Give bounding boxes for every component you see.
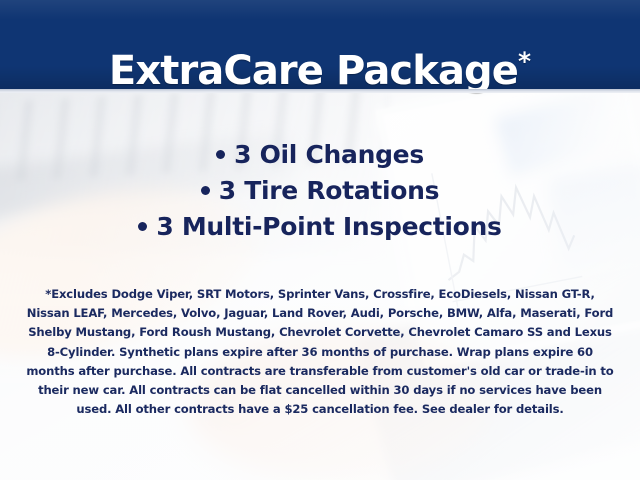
bullet-point-icon — [201, 186, 210, 195]
benefit-label: 3 Tire Rotations — [219, 176, 440, 205]
bullet-point-icon — [138, 222, 147, 231]
benefit-item-multi-point-inspections: 3 Multi-Point Inspections — [0, 209, 640, 245]
extracare-package-poster: ExtraCare Package* 3 Oil Changes 3 Tire … — [0, 0, 640, 480]
benefit-label: 3 Oil Changes — [234, 140, 424, 169]
benefit-label: 3 Multi-Point Inspections — [156, 212, 501, 241]
benefit-item-oil-changes: 3 Oil Changes — [0, 137, 640, 173]
bullet-point-icon — [216, 150, 225, 159]
benefits-list: 3 Oil Changes 3 Tire Rotations 3 Multi-P… — [0, 137, 640, 245]
page-title-text: ExtraCare Package — [109, 51, 518, 91]
benefit-item-tire-rotations: 3 Tire Rotations — [0, 173, 640, 209]
header-band: ExtraCare Package* — [0, 0, 640, 89]
content-area: 3 Oil Changes 3 Tire Rotations 3 Multi-P… — [0, 93, 640, 480]
disclaimer-text: *Excludes Dodge Viper, SRT Motors, Sprin… — [26, 285, 614, 419]
